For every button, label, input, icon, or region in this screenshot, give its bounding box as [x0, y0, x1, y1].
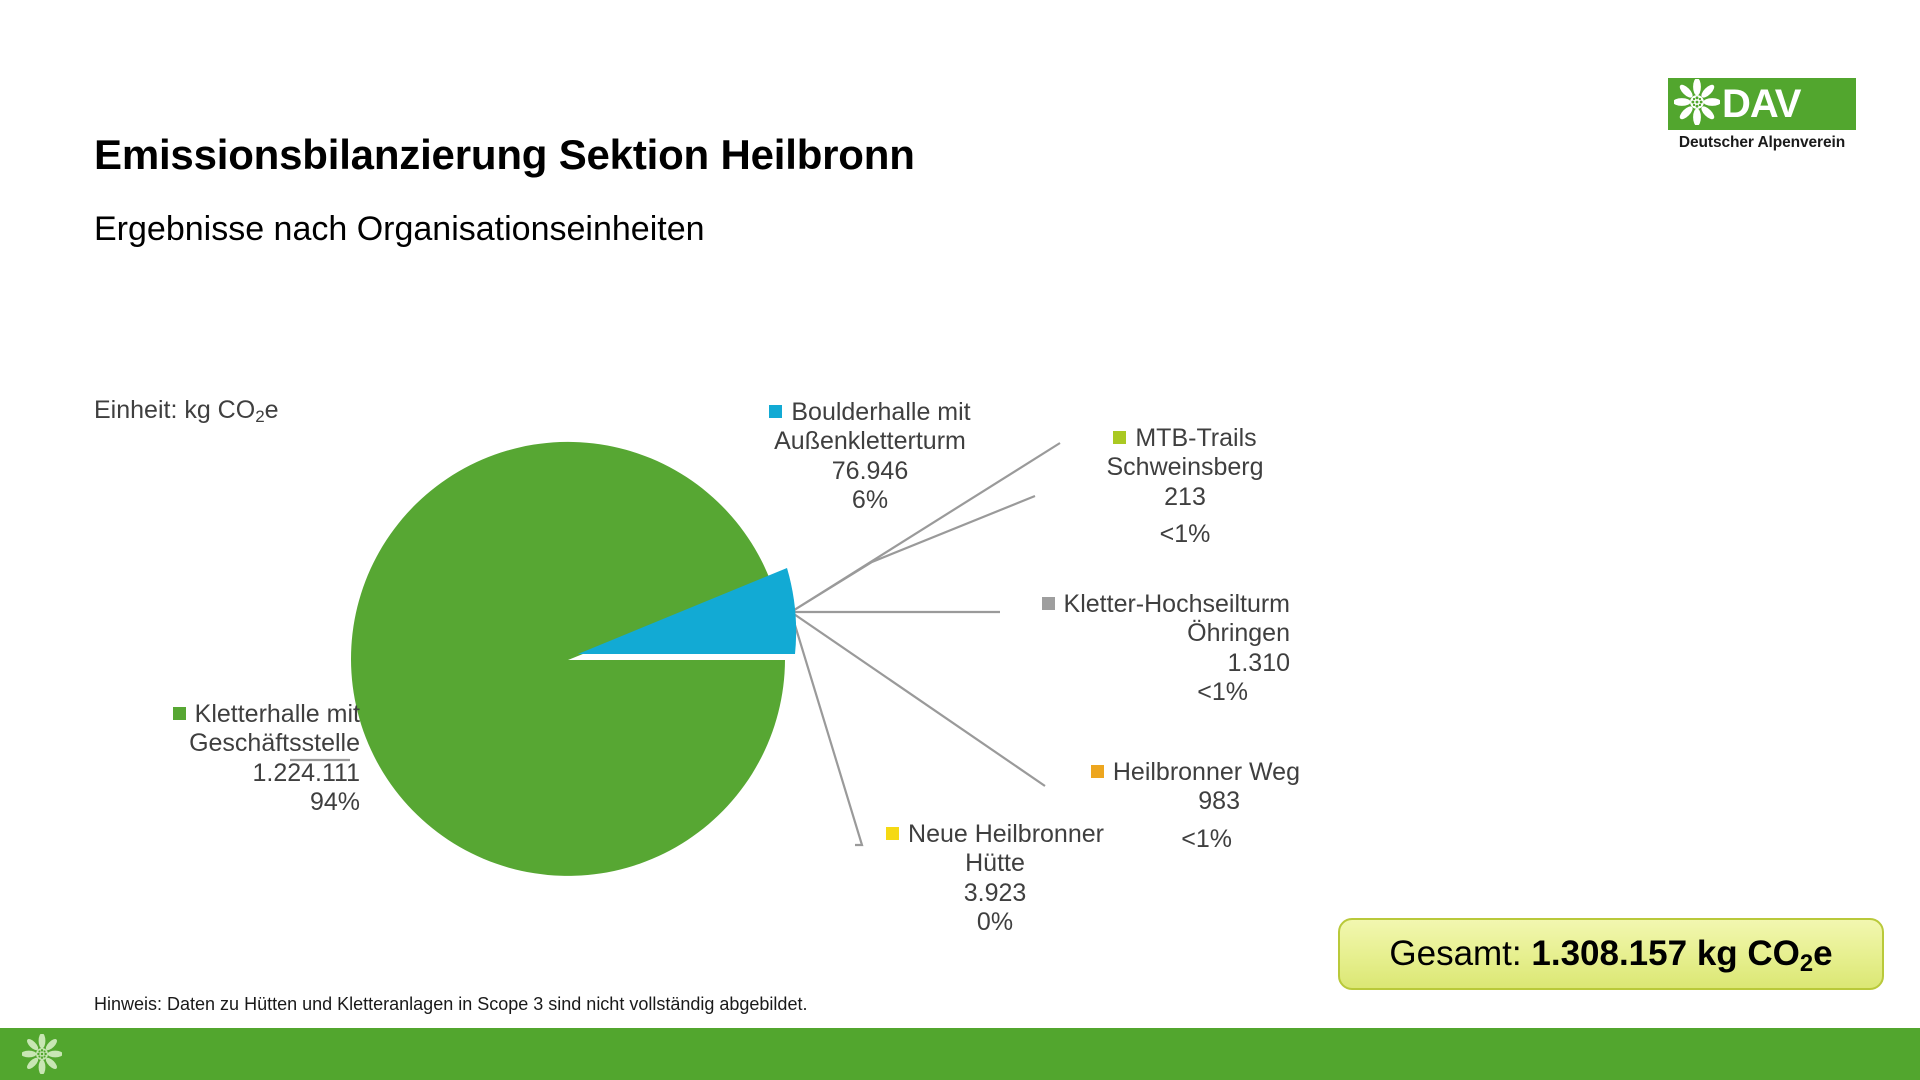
legend-marker-mtb-trails — [1113, 431, 1126, 444]
total-callout: Gesamt: 1.308.157 kg CO2e — [1338, 918, 1884, 990]
unit-note-suffix: e — [265, 396, 279, 424]
data-label-kletterhalle-line-0: Kletterhalle mit — [60, 700, 360, 729]
data-label-mtb-trails: MTB-Trails Schweinsberg 213 <1% — [1040, 424, 1330, 549]
unit-note-prefix: Einheit: kg CO — [94, 396, 255, 424]
pie-slice-kletterhalle — [351, 442, 785, 876]
page-title: Emissionsbilanzierung Sektion Heilbronn — [94, 131, 915, 179]
dav-wordmark: DAV — [1722, 84, 1800, 124]
footnote: Hinweis: Daten zu Hütten und Kletteranla… — [94, 994, 807, 1015]
footer-bar — [0, 1028, 1920, 1080]
data-label-boulderhalle: Boulderhalle mit Außenkletterturm 76.946… — [735, 398, 1005, 515]
unit-note: Einheit: kg CO2e — [94, 396, 279, 425]
data-label-boulderhalle-value: 76.946 — [735, 457, 1005, 486]
data-label-heilbronner-weg-value: 983 — [1000, 787, 1240, 816]
data-label-kletterhalle-percent: 94% — [60, 788, 360, 817]
data-label-neue-heilbronner-huette-line-1: Hütte — [860, 849, 1130, 878]
dav-logo-box: DAV — [1668, 78, 1856, 130]
data-label-heilbronner-weg-line-0: Heilbronner Weg — [1000, 758, 1300, 787]
data-label-kletter-hochseilturm-line-0: Kletter-Hochseilturm — [930, 590, 1290, 619]
data-label-neue-heilbronner-huette: Neue Heilbronner Hütte 3.923 0% — [860, 820, 1130, 937]
legend-marker-kletter-hochseilturm — [1042, 597, 1055, 610]
total-unit: kg CO2e — [1697, 934, 1833, 973]
page-subtitle: Ergebnisse nach Organisationseinheiten — [94, 210, 705, 249]
legend-marker-kletterhalle — [173, 707, 186, 720]
edelweiss-icon — [1674, 79, 1720, 130]
dav-logo: DAV Deutscher Alpenverein — [1668, 78, 1856, 152]
data-label-kletter-hochseilturm-value: 1.310 — [930, 649, 1290, 678]
data-label-kletter-hochseilturm-line-1: Öhringen — [930, 619, 1290, 648]
data-label-kletter-hochseilturm-percent: <1% — [930, 678, 1248, 707]
unit-note-sub: 2 — [255, 407, 264, 426]
edelweiss-watermark-icon — [22, 1034, 62, 1079]
total-value: 1.308.157 — [1531, 934, 1687, 973]
dav-logo-subtitle: Deutscher Alpenverein — [1668, 134, 1856, 152]
data-label-mtb-trails-percent: <1% — [1040, 520, 1330, 549]
total-label: Gesamt: — [1389, 934, 1521, 973]
data-label-kletterhalle-value: 1.224.111 — [60, 759, 360, 788]
data-label-boulderhalle-line-1: Außenkletterturm — [735, 427, 1005, 456]
legend-marker-boulderhalle — [769, 405, 782, 418]
data-label-boulderhalle-line-0: Boulderhalle mit — [735, 398, 1005, 427]
pie-slices — [351, 442, 796, 876]
data-label-kletterhalle: Kletterhalle mit Geschäftsstelle 1.224.1… — [60, 700, 360, 817]
legend-marker-neue-heilbronner-huette — [886, 827, 899, 840]
legend-marker-heilbronner-weg — [1091, 765, 1104, 778]
data-label-mtb-trails-value: 213 — [1040, 483, 1330, 512]
data-label-mtb-trails-line-0: MTB-Trails — [1040, 424, 1330, 453]
data-label-neue-heilbronner-huette-line-0: Neue Heilbronner — [860, 820, 1130, 849]
total-callout-text: Gesamt: 1.308.157 kg CO2e — [1389, 934, 1832, 974]
data-label-boulderhalle-percent: 6% — [735, 486, 1005, 515]
data-label-neue-heilbronner-huette-value: 3.923 — [860, 879, 1130, 908]
data-label-neue-heilbronner-huette-percent: 0% — [860, 908, 1130, 937]
pie-slice-boulderhalle — [578, 568, 796, 654]
data-label-mtb-trails-line-1: Schweinsberg — [1040, 453, 1330, 482]
data-label-kletter-hochseilturm: Kletter-Hochseilturm Öhringen 1.310 <1% — [930, 590, 1290, 707]
data-label-kletterhalle-line-1: Geschäftsstelle — [60, 729, 360, 758]
